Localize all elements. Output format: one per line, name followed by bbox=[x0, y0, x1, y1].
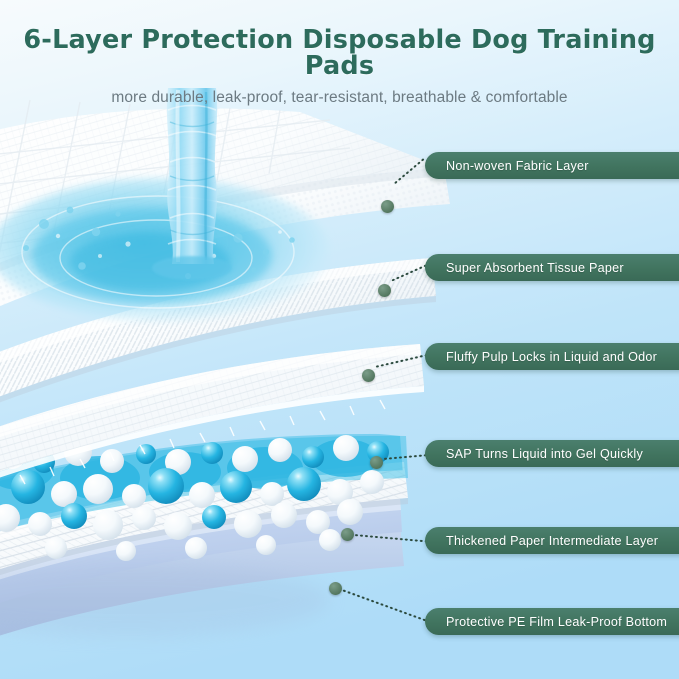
callout-leader-5 bbox=[354, 534, 428, 542]
callout-dot-4 bbox=[370, 456, 383, 469]
callout-dot-2 bbox=[378, 284, 391, 297]
callout-pill-6[interactable]: Protective PE Film Leak-Proof Bottom bbox=[425, 608, 679, 635]
callout-label-2: Super Absorbent Tissue Paper bbox=[446, 261, 624, 275]
callout-leader-3 bbox=[375, 354, 428, 368]
callout-pill-3[interactable]: Fluffy Pulp Locks in Liquid and Odor bbox=[425, 343, 679, 370]
callout-pill-4[interactable]: SAP Turns Liquid into Gel Quickly bbox=[425, 440, 679, 467]
callout-leader-1 bbox=[393, 158, 425, 185]
callout-label-5: Thickened Paper Intermediate Layer bbox=[446, 534, 658, 548]
callout-label-3: Fluffy Pulp Locks in Liquid and Odor bbox=[446, 350, 657, 364]
callout-leader-6 bbox=[342, 589, 429, 622]
callout-pill-1[interactable]: Non-woven Fabric Layer bbox=[425, 152, 679, 179]
page-title: 6-Layer Protection Disposable Dog Traini… bbox=[0, 0, 679, 79]
callout-label-1: Non-woven Fabric Layer bbox=[446, 159, 589, 173]
callout-leader-4 bbox=[383, 454, 429, 460]
callout-pill-5[interactable]: Thickened Paper Intermediate Layer bbox=[425, 527, 679, 554]
callout-label-6: Protective PE Film Leak-Proof Bottom bbox=[446, 615, 667, 629]
callout-dot-6 bbox=[329, 582, 342, 595]
callout-dot-5 bbox=[341, 528, 354, 541]
page-subtitle: more durable, leak-proof, tear-resistant… bbox=[0, 79, 679, 107]
callout-label-4: SAP Turns Liquid into Gel Quickly bbox=[446, 447, 643, 461]
header: 6-Layer Protection Disposable Dog Traini… bbox=[0, 0, 679, 107]
callout-dot-3 bbox=[362, 369, 375, 382]
callout-pill-2[interactable]: Super Absorbent Tissue Paper bbox=[425, 254, 679, 281]
callout-leader-2 bbox=[391, 265, 427, 282]
callout-dot-1 bbox=[381, 200, 394, 213]
